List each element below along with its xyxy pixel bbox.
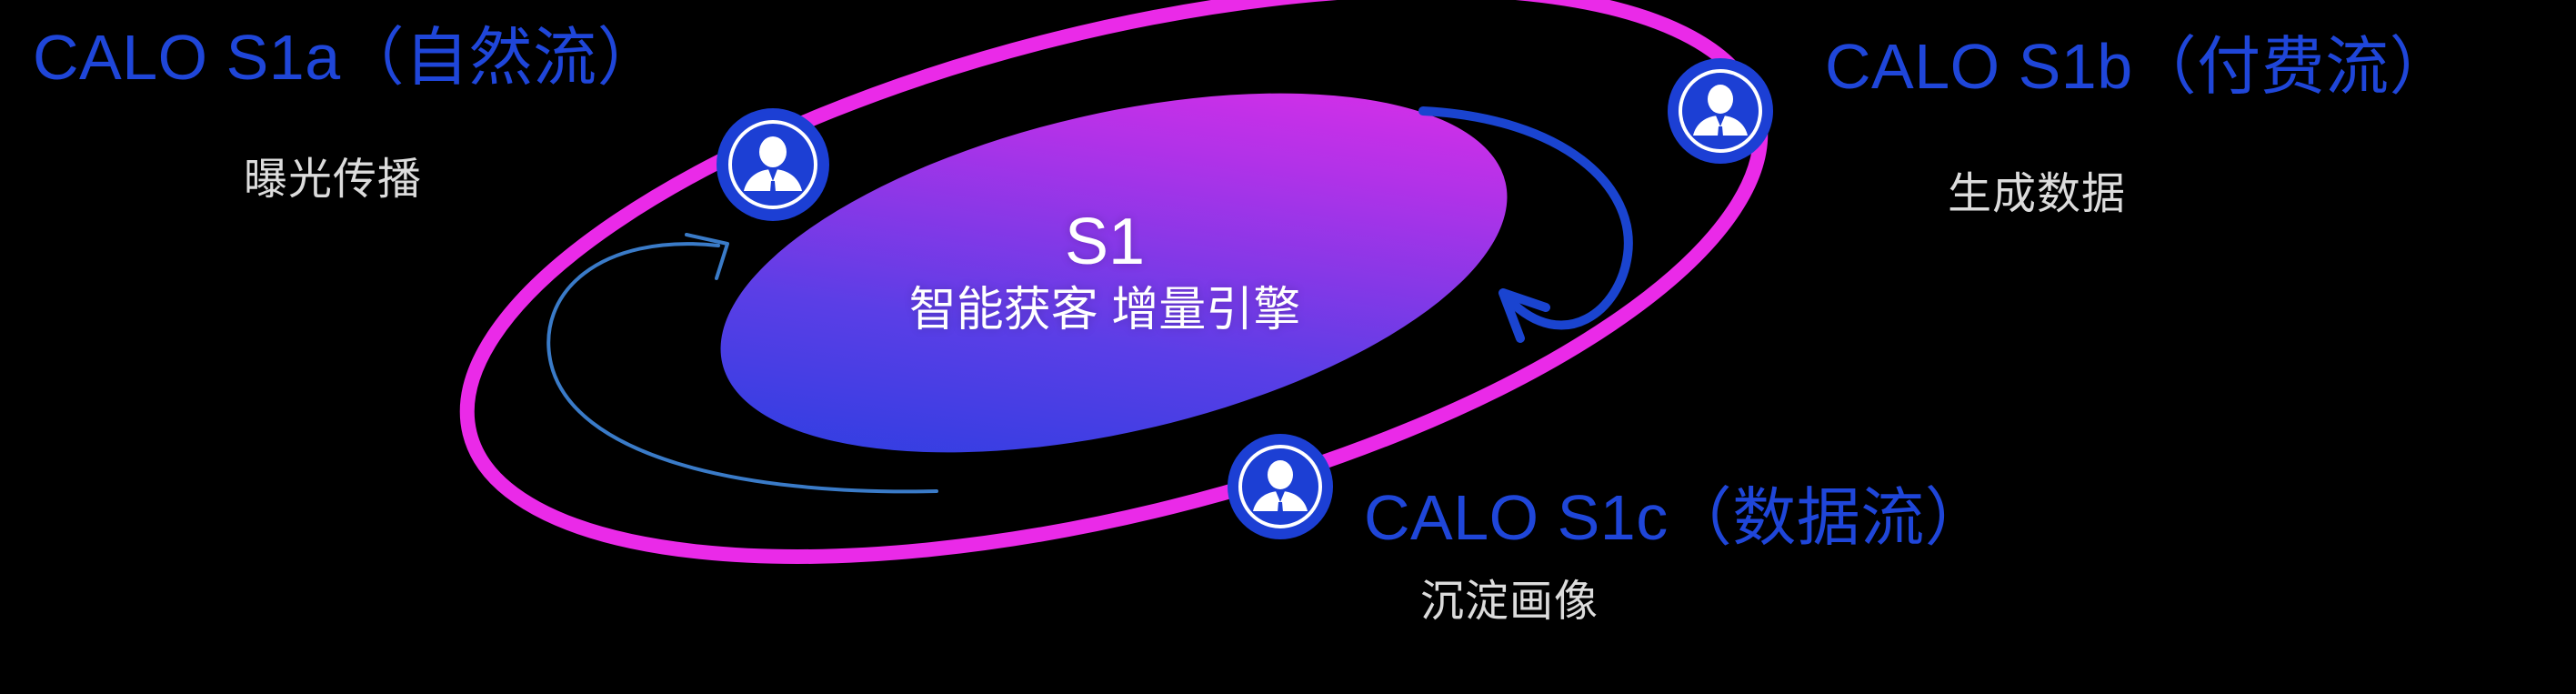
node-label-s1b-subtitle: 生成数据 xyxy=(1948,173,2126,216)
diagram-svg xyxy=(0,0,2576,694)
diagram-canvas: S1 智能获客 增量引擎 CALO S1a（自然流） 曝光传播 CALO S1b… xyxy=(0,0,2576,694)
node-badge-s1a[interactable] xyxy=(717,108,829,221)
node-label-s1b-title: CALO S1b（付费流） xyxy=(1825,35,2453,98)
node-label-s1a-title: CALO S1a（自然流） xyxy=(33,25,661,89)
node-label-s1c-title: CALO S1c（数据流） xyxy=(1364,486,1989,549)
node-label-s1a-subtitle: 曝光传播 xyxy=(244,158,422,202)
core-title: S1 xyxy=(968,209,1241,275)
node-label-s1c-subtitle: 沉淀画像 xyxy=(1420,580,1599,624)
node-badge-s1b[interactable] xyxy=(1668,58,1773,164)
core-subtitle: 智能获客 增量引擎 xyxy=(832,287,1378,334)
node-badge-s1c[interactable] xyxy=(1228,434,1333,539)
